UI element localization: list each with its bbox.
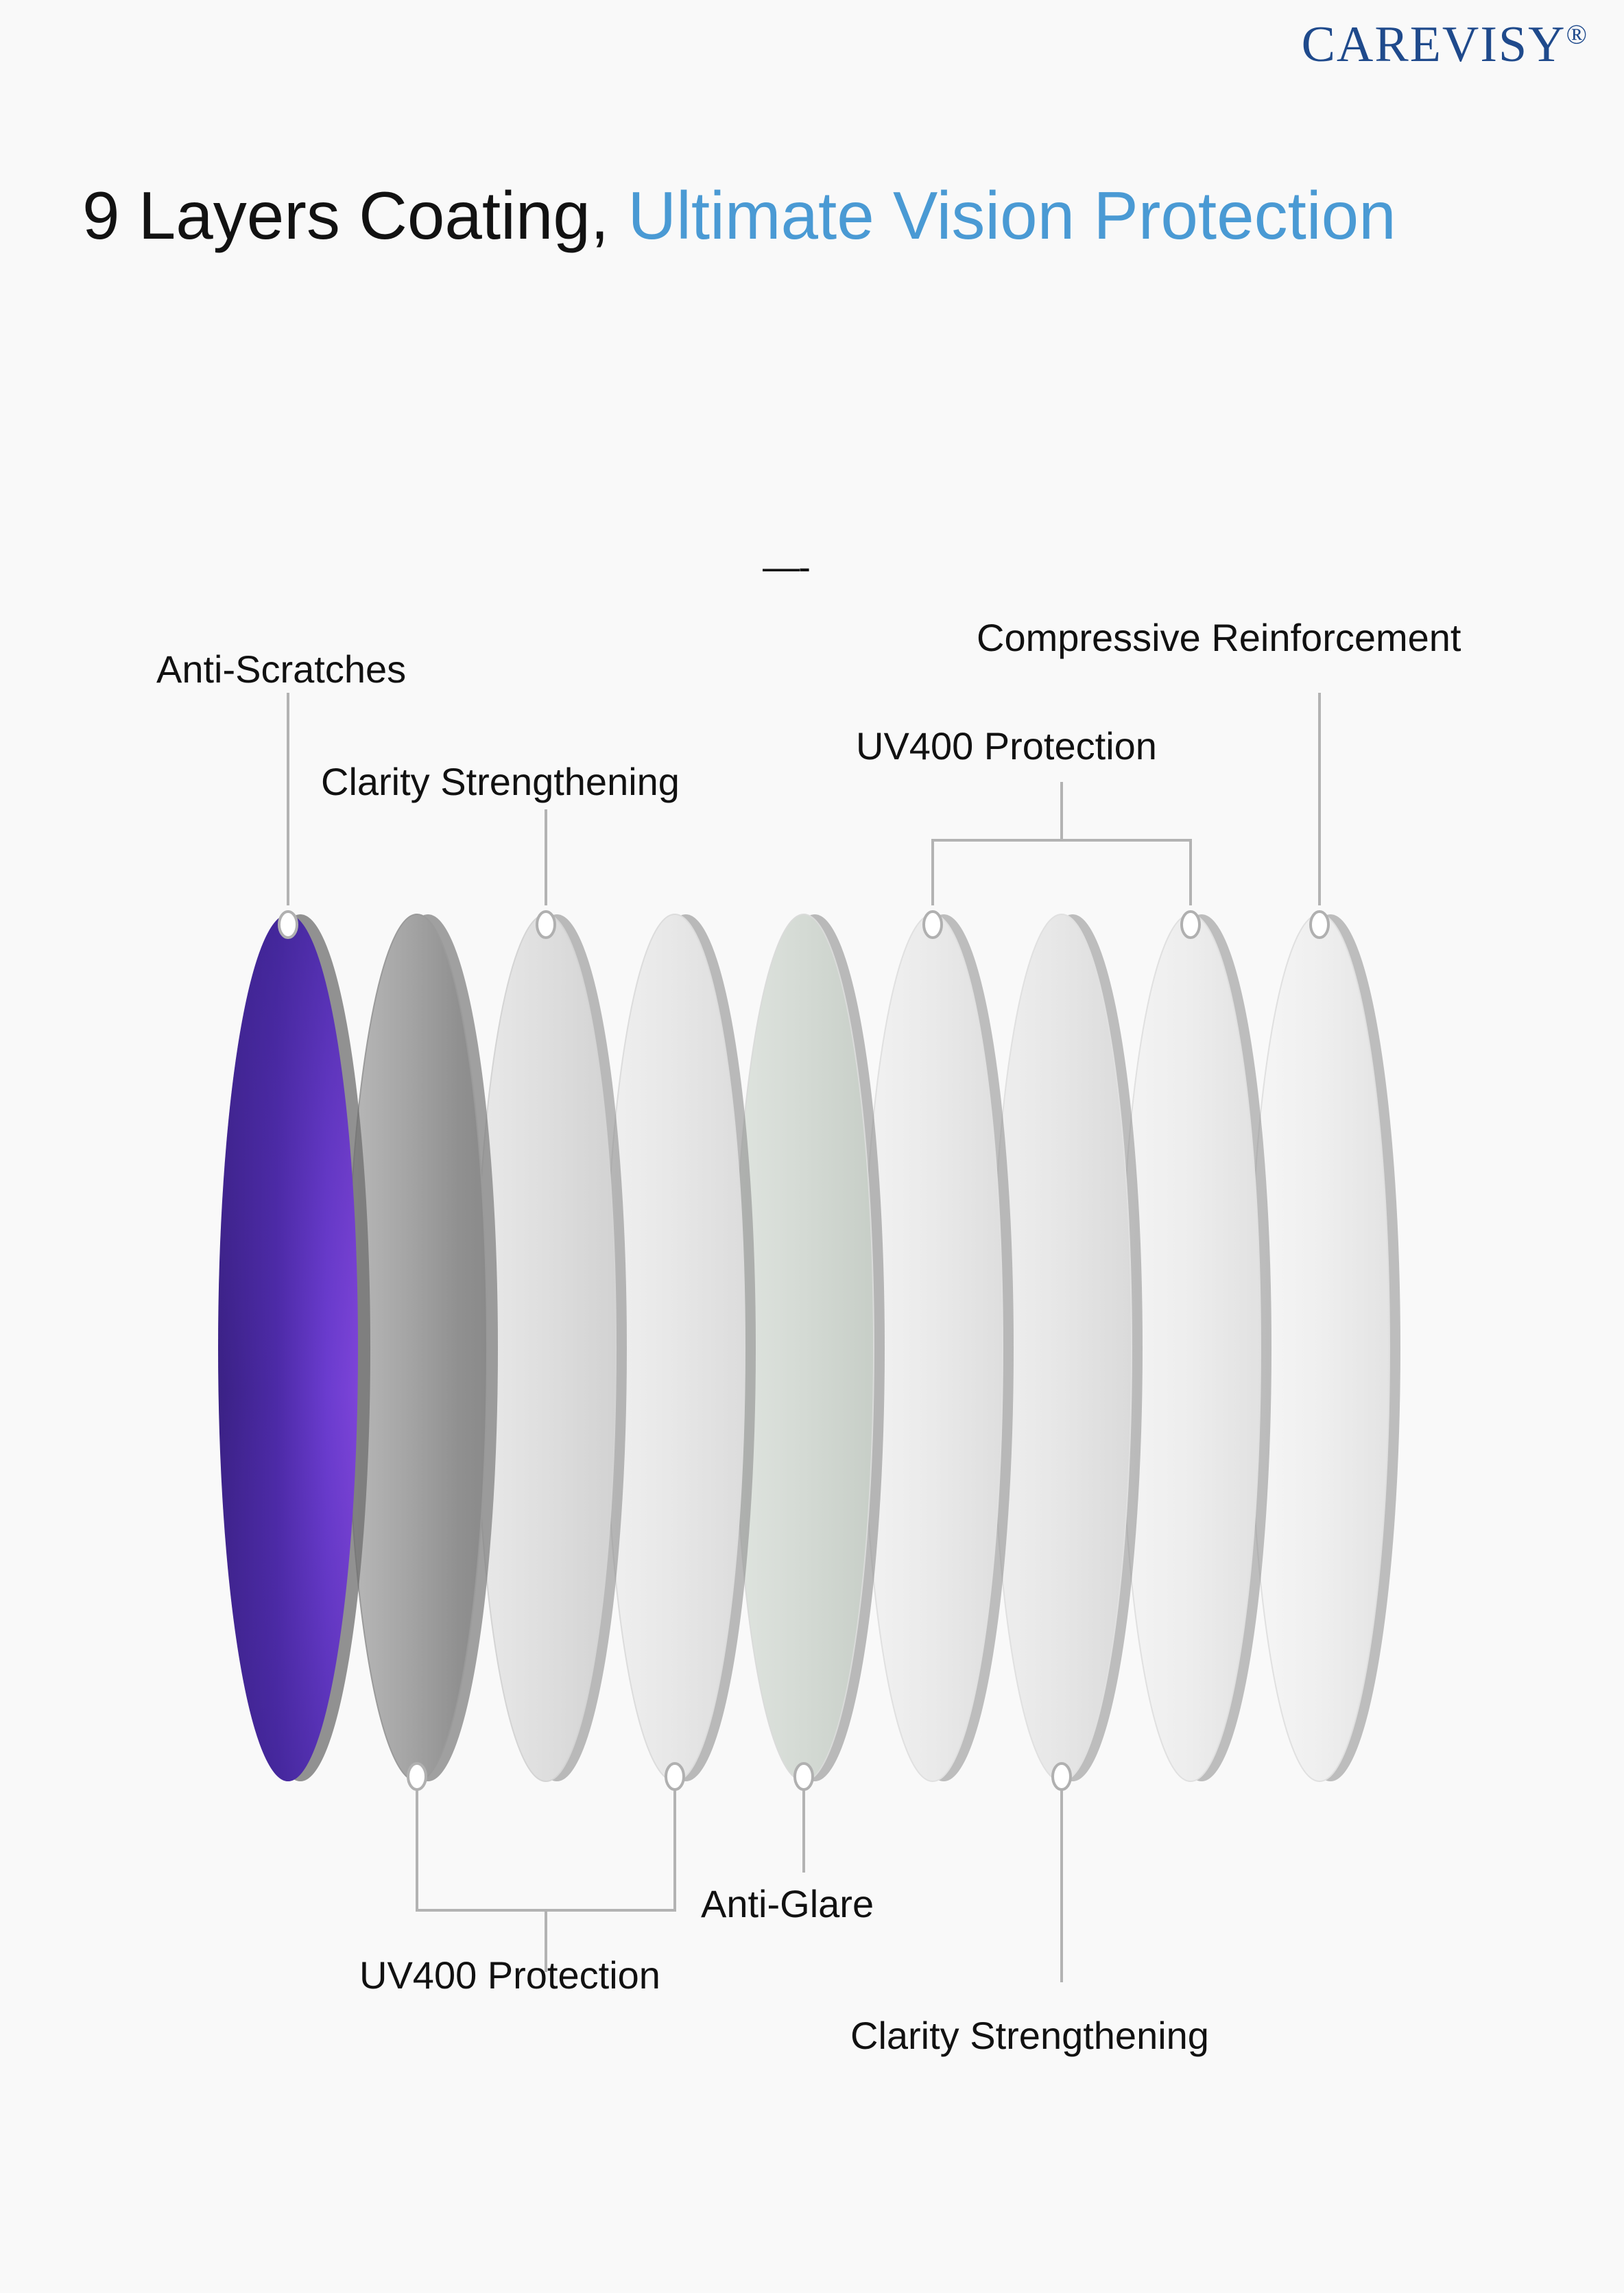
callout-label-clarity-strengthening-top: Clarity Strengthening (321, 763, 680, 801)
page-root: CAREVISY® 9 Layers Coating, Ultimate Vis… (0, 0, 1624, 2293)
callout-label-uv400-protection-top: UV400 Protection (856, 727, 1157, 765)
lens-layer-4 (605, 914, 756, 1781)
node-layer-3-top (537, 912, 555, 938)
callout-label-clarity-strengthening-bottom: Clarity Strengthening (850, 2017, 1209, 2055)
node-layer-6-top (924, 912, 942, 938)
bottom-connector-nodes (408, 1763, 1071, 1790)
lens-layers (218, 914, 1400, 1781)
lens-layer-3 (476, 914, 627, 1781)
callout-label-anti-glare: Anti-Glare (701, 1885, 874, 1923)
node-layer-9-top (1311, 912, 1328, 938)
connector-uv400-bottom-bracket (417, 1790, 675, 1910)
lens-layer-8 (1121, 914, 1271, 1781)
lens-stack-diagram (0, 0, 1624, 2293)
node-layer-2-bottom (408, 1763, 426, 1790)
node-layer-4-bottom (666, 1763, 684, 1790)
lens-layer-7 (992, 914, 1143, 1781)
node-layer-5-bottom (795, 1763, 813, 1790)
node-layer-7-bottom (1053, 1763, 1071, 1790)
lens-layer-5 (734, 914, 885, 1781)
lens-layer-9 (1250, 914, 1400, 1781)
callout-label-anti-scratches: Anti-Scratches (156, 650, 406, 689)
lens-layer-1 (218, 914, 370, 1781)
lens-layer-6 (863, 914, 1014, 1781)
callout-label-compressive-reinforcement: Compressive Reinforcement (977, 619, 1461, 657)
callout-label-uv400-protection-bottom: UV400 Protection (359, 1956, 660, 1995)
node-layer-8-top (1182, 912, 1199, 938)
node-layer-1-top (279, 912, 297, 938)
connector-uv400-top-bracket (933, 840, 1191, 905)
